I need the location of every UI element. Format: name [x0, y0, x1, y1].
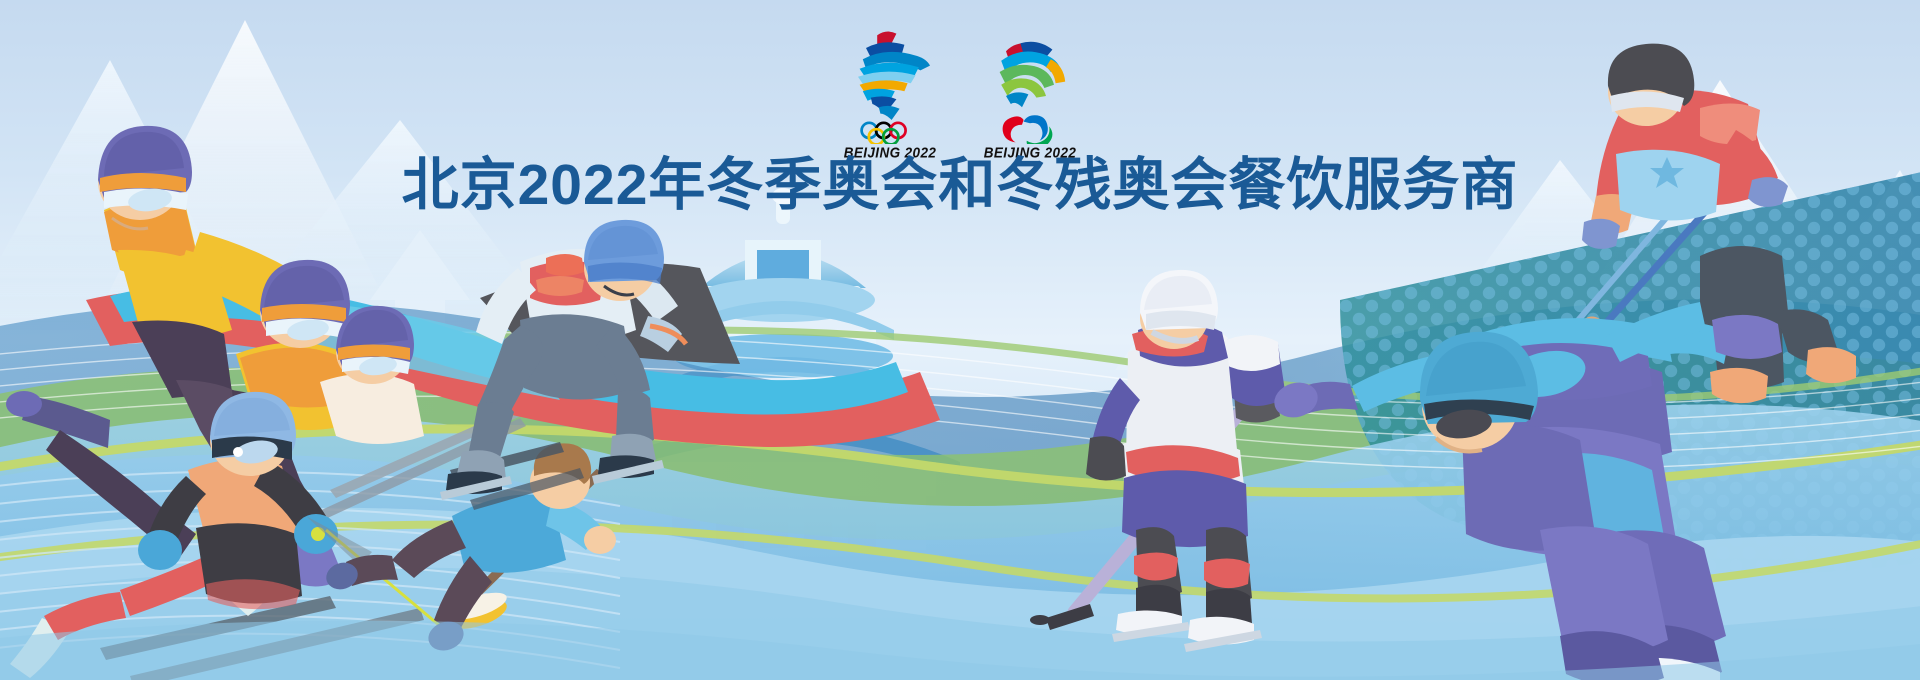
winter-dong-ribbon	[858, 32, 930, 120]
beijing-2022-olympic-emblem: BEIJING 2022	[842, 24, 938, 160]
beijing-2022-paralympic-emblem: BEIJING 2022	[982, 24, 1078, 160]
agitos	[1003, 115, 1053, 144]
paralympic-emblem-mark	[982, 24, 1078, 144]
olympic-rings	[862, 123, 906, 144]
fei-ribbon	[1000, 42, 1066, 107]
beijing-2022-hero-banner: BEIJING 2022 BEIJING 20	[0, 0, 1920, 680]
olympic-wordmark: BEIJING 2022	[842, 144, 938, 161]
olympic-emblem-mark	[842, 24, 938, 144]
emblem-row: BEIJING 2022 BEIJING 20	[0, 24, 1920, 160]
paralympic-wordmark: BEIJING 2022	[982, 144, 1078, 161]
